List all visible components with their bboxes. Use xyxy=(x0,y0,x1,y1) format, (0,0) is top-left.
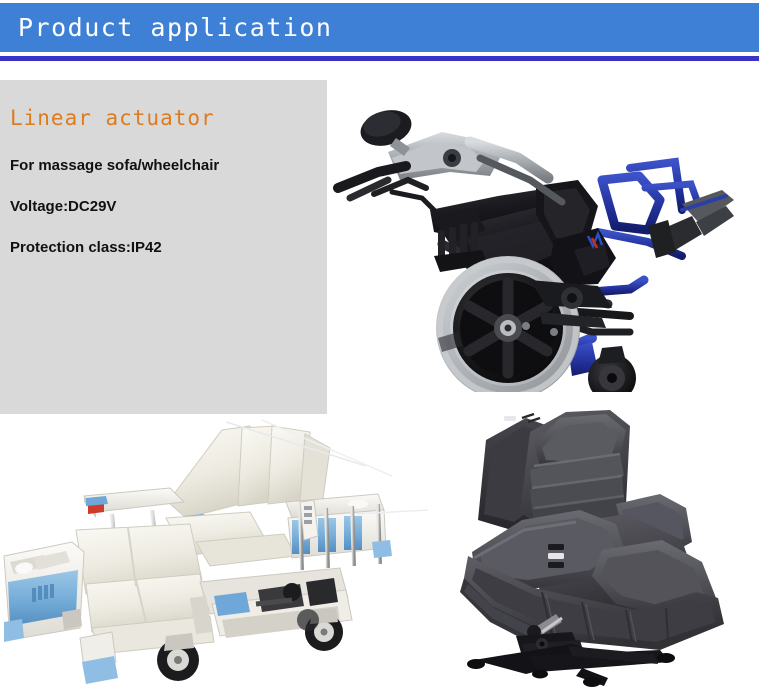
spec-line-application: For massage sofa/wheelchair xyxy=(10,158,317,173)
spec-line-protection-class: Protection class:IP42 xyxy=(10,240,317,255)
page-title: Product application xyxy=(0,15,332,40)
header-underline-rule xyxy=(0,56,759,61)
page-header-bar: Product application xyxy=(0,3,759,52)
specification-panel: Linear actuator For massage sofa/wheelch… xyxy=(0,80,327,414)
hospital-bed-product-image xyxy=(0,414,430,695)
product-name-heading: Linear actuator xyxy=(10,108,317,129)
spec-line-voltage: Voltage:DC29V xyxy=(10,199,317,214)
recliner-chair-product-image xyxy=(430,392,759,695)
wheelchair-product-image xyxy=(330,80,759,414)
product-application-page: Product application Linear actuator For … xyxy=(0,0,759,695)
